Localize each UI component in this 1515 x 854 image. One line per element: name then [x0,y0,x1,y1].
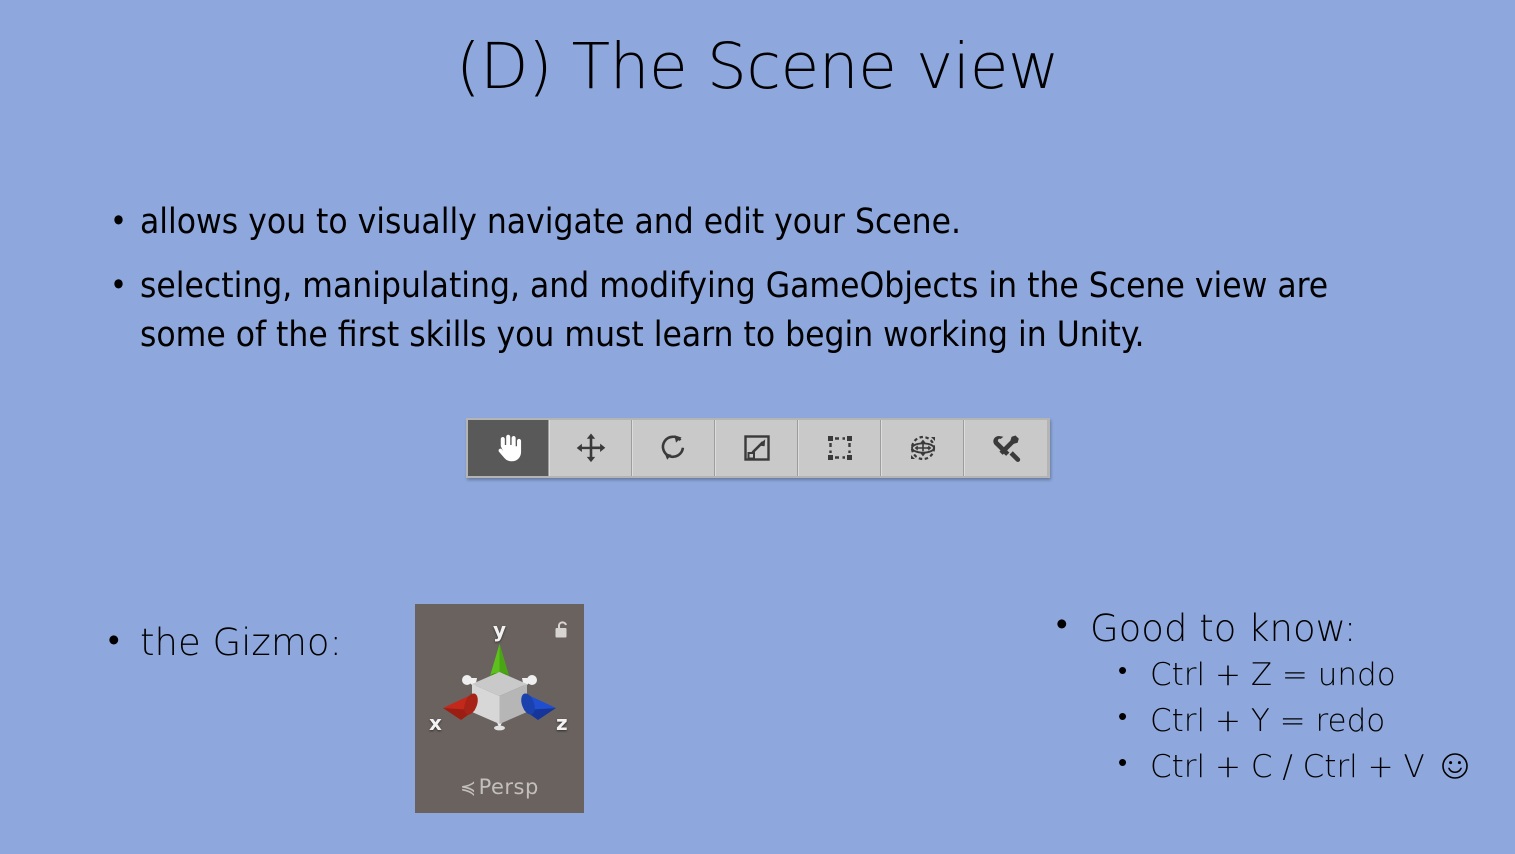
main-bullet-list: • allows you to visually navigate and ed… [104,198,1384,375]
unity-transform-toolbar [466,418,1050,478]
bullet-marker-icon: • [110,198,127,244]
main-bullet-text: selecting, manipulating, and modifying G… [140,262,1384,359]
custom-editor-tools-button[interactable] [964,420,1047,476]
bullet-marker-icon: • [1118,652,1127,690]
main-bullet-item: • allows you to visually navigate and ed… [104,198,1384,246]
move-tool-icon [575,432,607,464]
rotate-tool-icon [658,432,690,464]
page-title: (D) The Scene view [0,34,1515,100]
hand-tool-icon [491,431,525,465]
gizmo-label-text: the Gizmo: [140,621,342,664]
good-to-know-item: • Ctrl + Z = undo [1112,653,1502,699]
transform-tool-icon [907,432,939,464]
rotate-tool-button[interactable] [632,420,715,476]
good-to-know-item-text: Ctrl + C / Ctrl + V [1150,749,1425,785]
slide-canvas: (D) The Scene view • allows you to visua… [0,0,1515,854]
gizmo-axis-cube[interactable] [415,628,584,768]
main-bullet-item: • selecting, manipulating, and modifying… [104,262,1384,359]
scale-tool-icon [741,432,773,464]
bullet-marker-icon: • [108,619,120,660]
scale-tool-button[interactable] [715,420,798,476]
gizmo-projection-label: Persp [479,775,539,799]
custom-editor-tools-icon [990,432,1022,464]
hand-tool-button[interactable] [468,420,549,476]
rect-transform-tool-button[interactable] [798,420,881,476]
good-to-know-heading: • Good to know: [1052,605,1502,653]
good-to-know-item: • Ctrl + C / Ctrl + V [1112,745,1502,794]
good-to-know-heading-text: Good to know: [1090,607,1356,650]
good-to-know-item-text: Ctrl + Z = undo [1150,657,1396,693]
scene-view-gizmo: y x z [415,604,584,813]
good-to-know-item-text: Ctrl + Y = redo [1150,703,1385,739]
transform-tool-button[interactable] [881,420,964,476]
good-to-know-item: • Ctrl + Y = redo [1112,699,1502,745]
gizmo-projection-mode[interactable]: ≼Persp [415,775,584,799]
bullet-marker-icon: • [1056,603,1068,646]
move-tool-button[interactable] [549,420,632,476]
chevron-left-icon: ≼ [460,777,476,799]
good-to-know-list: • Good to know: • Ctrl + Z = undo • Ctrl… [1052,605,1502,794]
main-bullet-text: allows you to visually navigate and edit… [140,198,1384,246]
smiley-face-icon [1441,748,1469,794]
bullet-marker-icon: • [1118,698,1127,736]
bullet-marker-icon: • [1118,744,1127,782]
rect-transform-tool-icon [824,432,856,464]
gizmo-label: • the Gizmo: [104,620,342,666]
bullet-marker-icon: • [110,262,127,308]
